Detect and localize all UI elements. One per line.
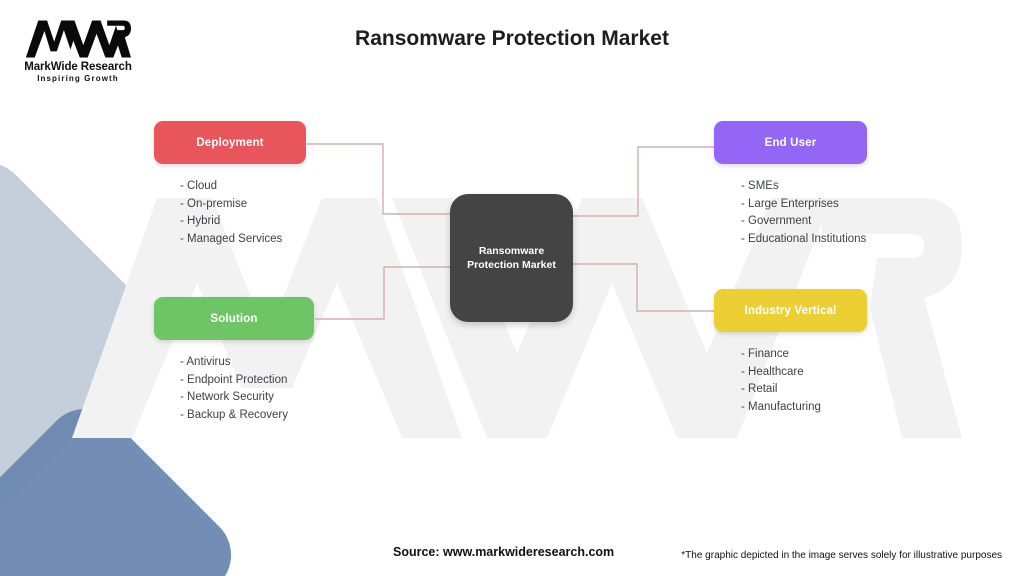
node-solution: Solution - Antivirus - Endpoint Protecti… — [154, 297, 314, 424]
node-solution-list: - Antivirus - Endpoint Protection - Netw… — [154, 354, 314, 424]
diagram-canvas: MarkWide Research Inspiring Growth Ranso… — [0, 0, 1024, 576]
node-industry-vertical-title: Industry Vertical — [744, 305, 836, 317]
center-node-line1: Ransomware — [467, 244, 556, 258]
node-solution-title: Solution — [210, 313, 257, 325]
center-node: Ransomware Protection Market — [450, 194, 573, 322]
node-industry-vertical-header[interactable]: Industry Vertical — [714, 289, 867, 332]
list-item: - Managed Services — [180, 231, 306, 249]
list-item: - Backup & Recovery — [180, 407, 314, 425]
brand-tagline: Inspiring Growth — [18, 74, 138, 83]
list-item: - On-premise — [180, 196, 306, 214]
center-node-label: Ransomware Protection Market — [467, 244, 556, 272]
disclaimer-label: *The graphic depicted in the image serve… — [681, 550, 1002, 561]
list-item: - Manufacturing — [741, 399, 867, 417]
node-solution-header[interactable]: Solution — [154, 297, 314, 340]
list-item: - Retail — [741, 381, 867, 399]
connector-industry-vertical — [571, 264, 714, 311]
source-label: Source: www.markwideresearch.com — [393, 545, 614, 559]
brand-name: MarkWide Research — [18, 61, 138, 73]
node-deployment-header[interactable]: Deployment — [154, 121, 306, 164]
node-end-user-header[interactable]: End User — [714, 121, 867, 164]
list-item: - Endpoint Protection — [180, 372, 314, 390]
center-node-line2: Protection Market — [467, 258, 556, 272]
node-end-user-list: - SMEs - Large Enterprises - Government … — [714, 178, 867, 248]
page-title: Ransomware Protection Market — [0, 27, 1024, 51]
connector-deployment — [307, 144, 452, 214]
node-end-user-title: End User — [765, 137, 817, 149]
list-item: - Antivirus — [180, 354, 314, 372]
connector-end-user — [571, 147, 714, 216]
node-industry-vertical-list: - Finance - Healthcare - Retail - Manufa… — [714, 346, 867, 416]
node-deployment-title: Deployment — [196, 137, 263, 149]
node-end-user: End User - SMEs - Large Enterprises - Go… — [714, 121, 867, 248]
node-deployment: Deployment - Cloud - On-premise - Hybrid… — [154, 121, 306, 248]
node-deployment-list: - Cloud - On-premise - Hybrid - Managed … — [154, 178, 306, 248]
list-item: - Large Enterprises — [741, 196, 867, 214]
list-item: - Cloud — [180, 178, 306, 196]
node-industry-vertical: Industry Vertical - Finance - Healthcare… — [714, 289, 867, 416]
list-item: - Network Security — [180, 389, 314, 407]
connector-solution — [315, 267, 452, 319]
list-item: - Healthcare — [741, 364, 867, 382]
list-item: - Government — [741, 213, 867, 231]
list-item: - Educational Institutions — [741, 231, 867, 249]
list-item: - Hybrid — [180, 213, 306, 231]
list-item: - Finance — [741, 346, 867, 364]
list-item: - SMEs — [741, 178, 867, 196]
